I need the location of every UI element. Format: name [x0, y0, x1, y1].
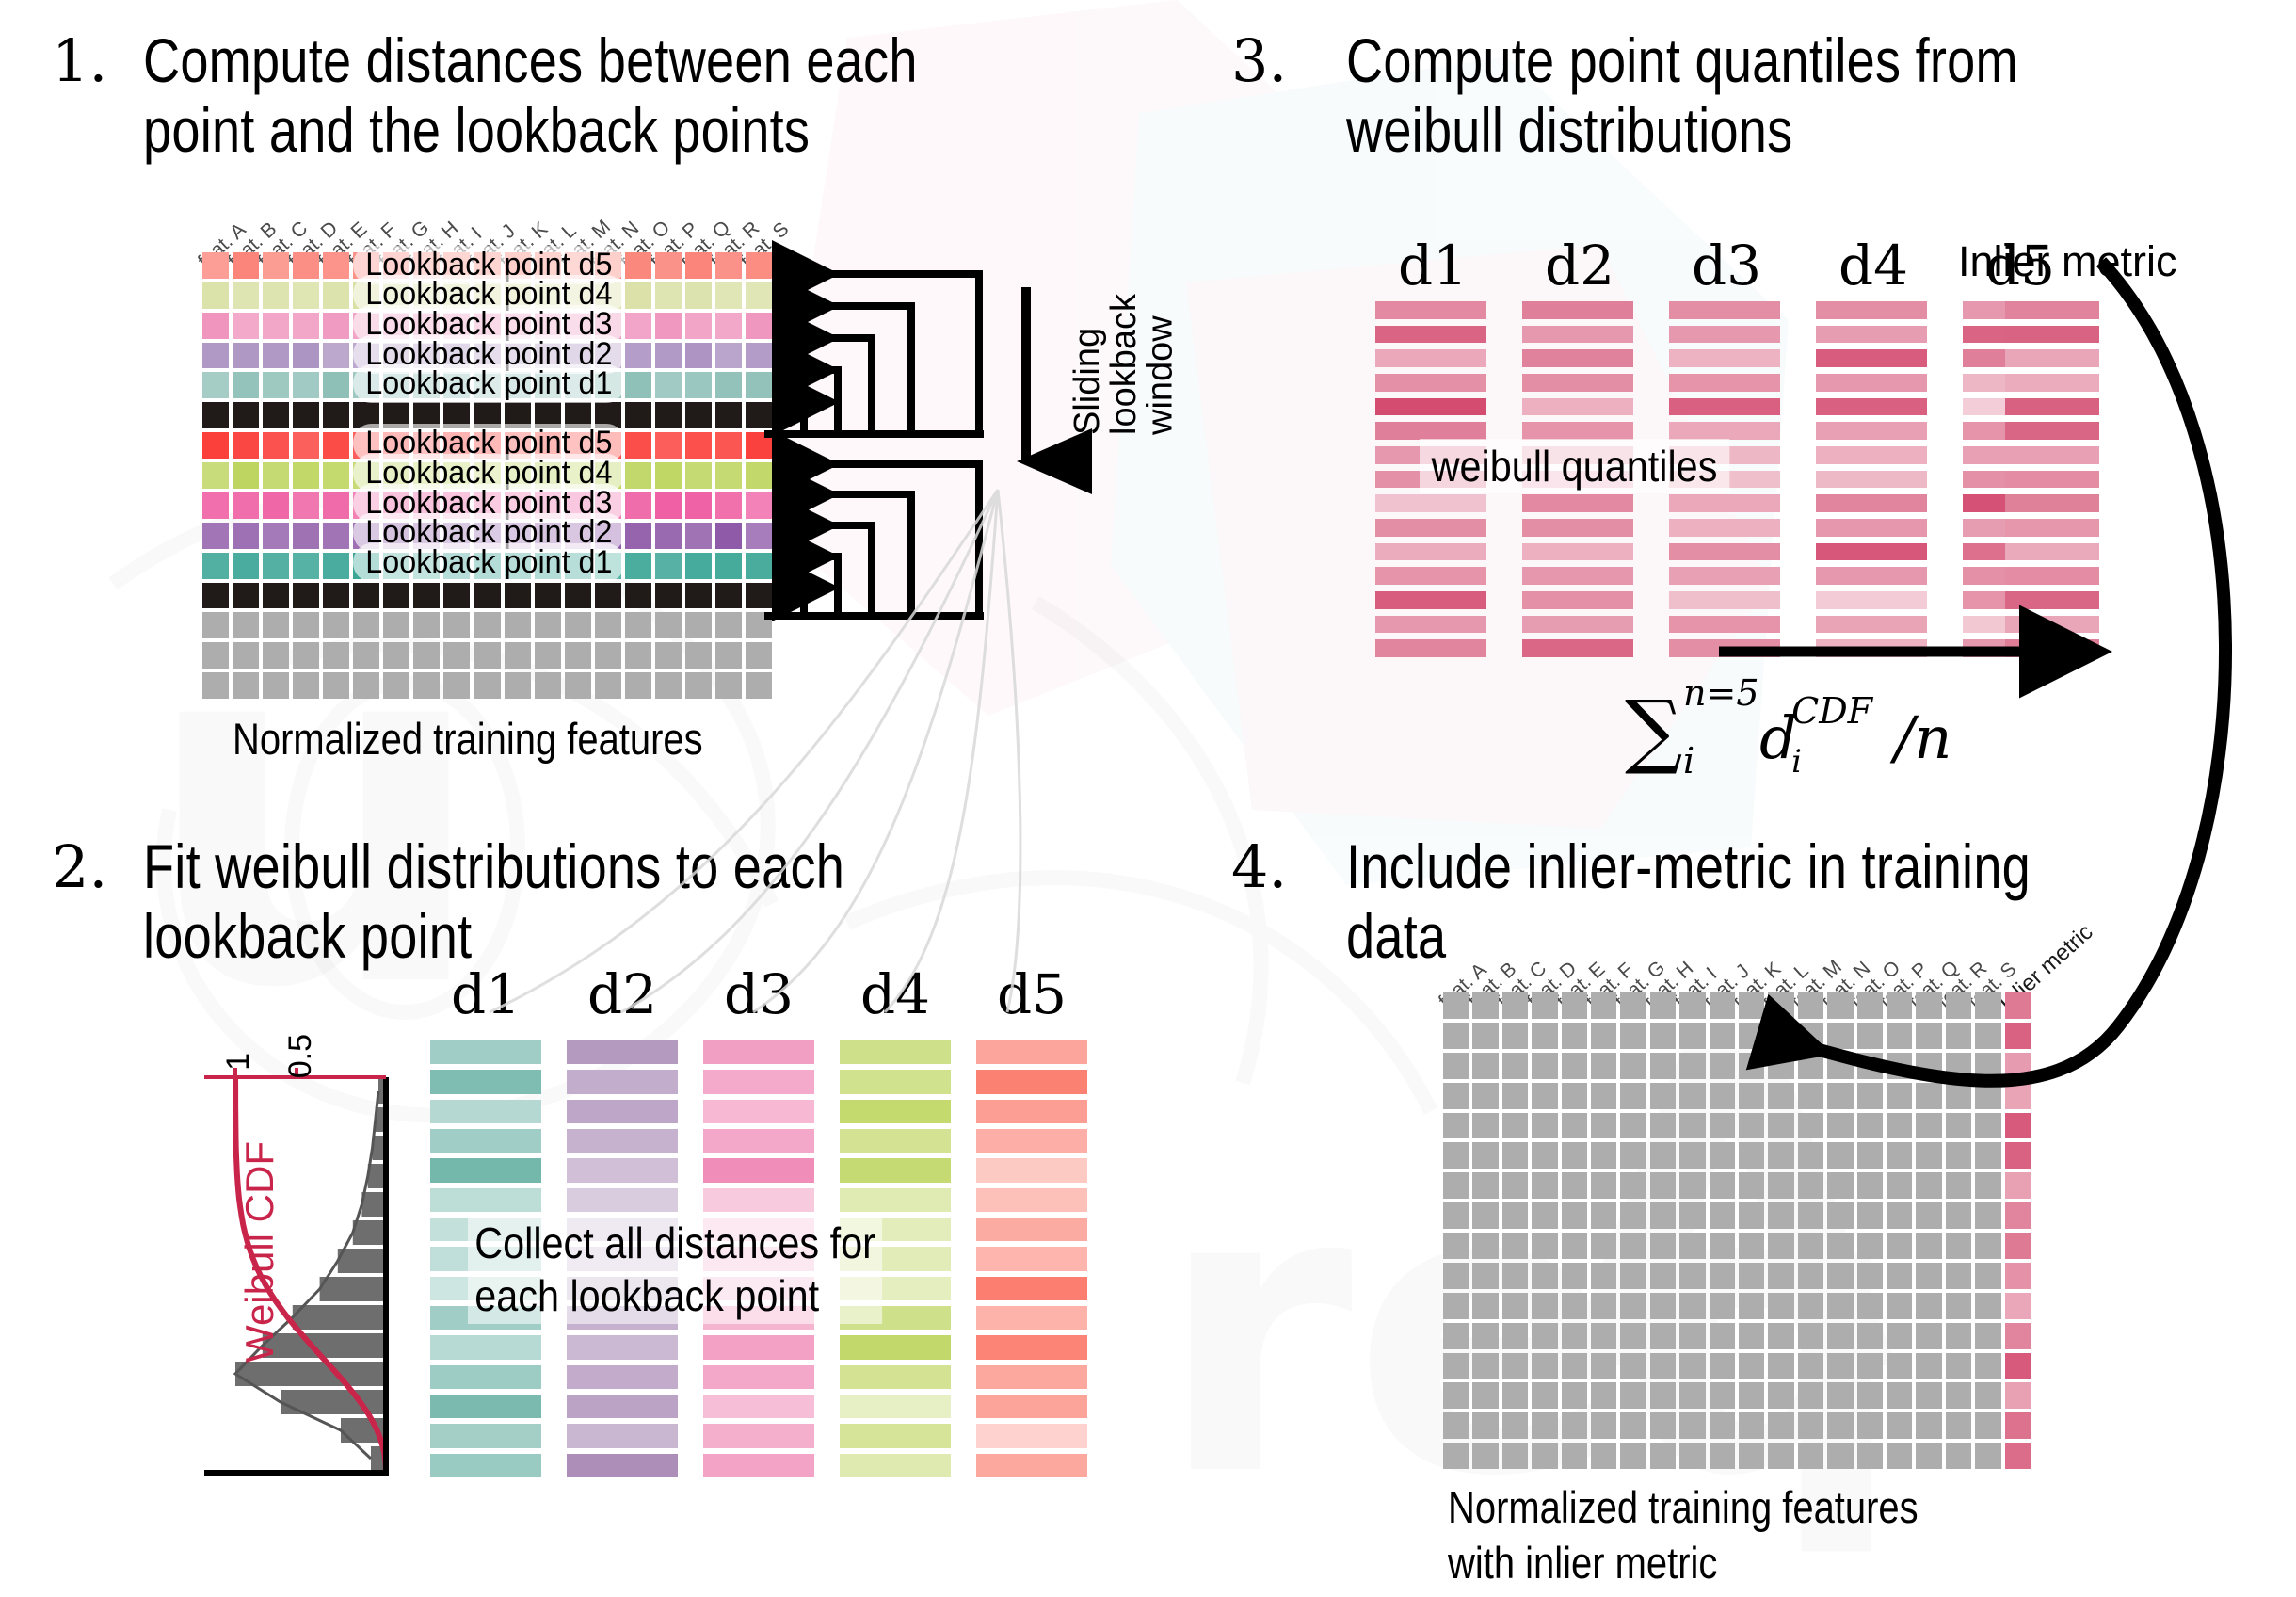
panel-4-cell — [1472, 1053, 1498, 1079]
panel-4-cell — [1798, 1382, 1823, 1409]
panel-3-inlier-metric-label: Inlier metric — [1958, 237, 2177, 286]
panel-1-cell — [625, 462, 651, 489]
inlier-metric-bar — [2005, 398, 2099, 416]
inlier-metric-bar — [2005, 591, 2099, 609]
panel-4-cell — [1650, 1382, 1676, 1409]
panel-4-cell — [1532, 1202, 1557, 1229]
panel-4-cell — [1975, 1233, 2000, 1259]
panel-1-cell — [293, 612, 319, 638]
panel-1-cell — [474, 612, 500, 638]
panel-4-cell — [1857, 1353, 1883, 1379]
panel-4-cell — [1562, 1053, 1587, 1079]
panel-3-quantile-bar — [1669, 349, 1780, 367]
inlier-metric-bar — [2005, 471, 2099, 489]
panel-1-cell — [505, 642, 531, 669]
panel-1-cell — [715, 343, 742, 369]
panel-1-cell — [233, 492, 259, 519]
panel-2-column-label-d4: d4 — [860, 962, 930, 1026]
panel-1-cell — [293, 553, 319, 579]
panel-4-cell — [1710, 1353, 1735, 1379]
panel-1-cell — [202, 523, 229, 549]
panel-1-cell — [202, 343, 229, 369]
panel-1-cell — [383, 583, 409, 609]
inlier-metric-bar — [2005, 446, 2099, 464]
panel-3-quantile-bar — [1669, 591, 1780, 609]
panel-4-cell — [1591, 1172, 1616, 1199]
panel-1-cell — [443, 583, 470, 609]
panel-4-cell — [1916, 1113, 1941, 1139]
panel-4-cell — [1768, 992, 1793, 1019]
step-2-number: 2. — [52, 838, 107, 896]
histogram-bar — [338, 1249, 386, 1273]
panel-1-cell — [383, 642, 409, 669]
panel-4-cell — [1798, 1412, 1823, 1439]
panel-4-cell — [1798, 1113, 1823, 1139]
panel-1-cell — [685, 313, 712, 339]
panel-1-cell — [263, 343, 289, 369]
panel-3-column-label-d1: d1 — [1398, 234, 1468, 298]
panel-4-cell — [1650, 1142, 1676, 1169]
panel-4-cell — [1916, 1142, 1941, 1169]
panel-2-bar — [976, 1129, 1087, 1153]
panel-3-quantile-bar — [1522, 543, 1633, 561]
panel-3-quantile-bar — [1522, 616, 1633, 634]
panel-4-cell — [1946, 1113, 1971, 1139]
panel-1-cell — [263, 583, 289, 609]
panel-4-cell — [1443, 1263, 1469, 1289]
panel-4-cell — [1562, 1113, 1587, 1139]
panel-4-cell — [1532, 1083, 1557, 1109]
panel-2-bar — [567, 1454, 678, 1477]
inlier-metric-bar — [2005, 422, 2099, 440]
panel-4-cell — [1946, 1353, 1971, 1379]
inlier-metric-bar — [2005, 349, 2099, 367]
panel-4-cell — [1827, 1443, 1853, 1469]
panel-3-quantile-bar — [1375, 374, 1486, 392]
panel-1-cell — [263, 252, 289, 279]
panel-3-quantile-bar — [1669, 639, 1780, 657]
panel-2-bar — [976, 1188, 1087, 1212]
panel-1-cell — [505, 672, 531, 699]
panel-1-cell — [474, 583, 500, 609]
panel-4-cell — [1472, 1353, 1498, 1379]
panel-4-inlier-cell — [2005, 1083, 2031, 1109]
panel-4-cell — [1679, 1382, 1705, 1409]
panel-1-cell — [685, 523, 712, 549]
panel-1-cell — [595, 612, 621, 638]
panel-1-cell — [233, 612, 259, 638]
panel-4-cell — [1739, 1202, 1764, 1229]
panel-4-cell — [1679, 1202, 1705, 1229]
panel-4-cell — [1768, 1412, 1793, 1439]
inlier-metric-column — [2005, 301, 2099, 664]
panel-4-cell — [1975, 1023, 2000, 1049]
panel-2-bar — [976, 1040, 1087, 1064]
panel-1-cell — [625, 492, 651, 519]
panel-4-cell — [1710, 1233, 1735, 1259]
panel-4-cell — [1946, 1142, 1971, 1169]
panel-1-cell — [263, 612, 289, 638]
panel-1-cell — [655, 553, 682, 579]
panel-4-cell — [1591, 1323, 1616, 1349]
panel-1-cell — [715, 612, 742, 638]
panel-4-cell — [1532, 1233, 1557, 1259]
panel-3-quantile-bar — [1669, 567, 1780, 585]
panel-4-cell — [1887, 1263, 1912, 1289]
panel-4-cell — [1975, 1202, 2000, 1229]
panel-4-inlier-cell — [2005, 1293, 2031, 1319]
panel-1-cell — [293, 402, 319, 428]
panel-1-cell — [565, 672, 591, 699]
panel-4-cell — [1946, 1233, 1971, 1259]
histogram-bar — [293, 1305, 386, 1330]
panel-1-cell — [323, 372, 349, 398]
panel-4-cell — [1591, 1353, 1616, 1379]
panel-1-cell — [263, 372, 289, 398]
formula-d-sup: CDF — [1791, 690, 1872, 732]
panel-2-bar — [703, 1454, 814, 1477]
panel-4-cell — [1975, 1172, 2000, 1199]
panel-1-cell — [202, 612, 229, 638]
panel-4-cell — [1710, 1382, 1735, 1409]
panel-1-cell — [413, 672, 440, 699]
panel-4-cell — [1562, 1382, 1587, 1409]
panel-4-cell — [1679, 1293, 1705, 1319]
panel-4-cell — [1620, 1202, 1646, 1229]
panel-4-cell — [1798, 1293, 1823, 1319]
panel-1-cell — [233, 523, 259, 549]
panel-3-quantile-bar — [1522, 326, 1633, 344]
panel-2-bar — [567, 1070, 678, 1093]
panel-4-cell — [1768, 1293, 1793, 1319]
panel-1-cell — [413, 642, 440, 669]
panel-2-bar — [703, 1129, 814, 1153]
panel-1-cell — [715, 583, 742, 609]
panel-4-cell — [1768, 1113, 1793, 1139]
panel-4-cell — [1768, 1233, 1793, 1259]
panel-4-cell — [1768, 1382, 1793, 1409]
panel-4-cell — [1827, 992, 1853, 1019]
lookback-row-label: Lookback point d1 — [353, 364, 625, 403]
inlier-metric-bar — [2005, 494, 2099, 512]
panel-1-cell — [323, 672, 349, 699]
panel-1-cell — [202, 492, 229, 519]
panel-4-cell — [1916, 1053, 1941, 1079]
panel-4-cell — [1916, 1353, 1941, 1379]
panel-4-cell — [1591, 1412, 1616, 1439]
panel-4-cell — [1443, 1323, 1469, 1349]
panel-1-cell — [655, 372, 682, 398]
panel-4-cell — [1916, 1233, 1941, 1259]
panel-4-cell — [1472, 1142, 1498, 1169]
panel-1-cell — [655, 402, 682, 428]
panel-4-cell — [1472, 1113, 1498, 1139]
panel-1-cell — [323, 313, 349, 339]
panel-4-cell — [1679, 1443, 1705, 1469]
panel-1-cell — [323, 612, 349, 638]
panel-4-cell — [1739, 1293, 1764, 1319]
formula-sum-sub: i — [1683, 740, 1694, 782]
panel-2-bar — [976, 1158, 1087, 1182]
panel-1-cell — [625, 672, 651, 699]
panel-1-cell — [625, 372, 651, 398]
panel-4-cell — [1827, 1382, 1853, 1409]
panel-1-cell — [746, 492, 772, 519]
panel-1-cell — [625, 553, 651, 579]
weibull-cdf-axis-label: Weibull CDF — [237, 1141, 282, 1363]
panel-4-feature-grid — [1443, 992, 2031, 1469]
panel-1-cell — [625, 523, 651, 549]
panel-1-cell — [655, 432, 682, 459]
panel-4-cell — [1532, 1023, 1557, 1049]
panel-1-cell — [202, 372, 229, 398]
panel-4-cell — [1443, 1172, 1469, 1199]
panel-1-cell — [715, 492, 742, 519]
panel-1-cell — [715, 462, 742, 489]
panel-4-cell — [1887, 1443, 1912, 1469]
panel-1-cell — [746, 372, 772, 398]
panel-4-cell — [1679, 1172, 1705, 1199]
panel-4-cell — [1472, 1412, 1498, 1439]
panel-4-cell — [1650, 1443, 1676, 1469]
panel-3-quantile-bar — [1522, 519, 1633, 537]
panel-4-cell — [1502, 1142, 1528, 1169]
panel-4-cell — [1591, 1202, 1616, 1229]
panel-4-cell — [1768, 1263, 1793, 1289]
panel-4-cell — [1472, 992, 1498, 1019]
panel-2-bar — [430, 1100, 541, 1123]
histogram-bar — [320, 1277, 386, 1301]
panel-4-cell — [1710, 1172, 1735, 1199]
panel-3-quantile-bar — [1669, 519, 1780, 537]
panel-1-cell — [655, 343, 682, 369]
panel-2-column-d5 — [976, 1040, 1087, 1483]
panel-4-cell — [1857, 1263, 1883, 1289]
panel-4-cell — [1798, 1323, 1823, 1349]
panel-1-cell — [202, 282, 229, 309]
panel-3-quantile-bar — [1816, 398, 1927, 416]
panel-4-cell — [1562, 1023, 1587, 1049]
panel-4-cell — [1650, 992, 1676, 1019]
panel-4-cell — [1502, 1323, 1528, 1349]
panel-1-cell — [655, 583, 682, 609]
inlier-metric-bar — [2005, 639, 2099, 657]
panel-4-cell — [1857, 1113, 1883, 1139]
panel-2-bar — [703, 1365, 814, 1389]
panel-4-cell — [1887, 1023, 1912, 1049]
panel-4-cell — [1916, 1083, 1941, 1109]
panel-2-bar — [430, 1365, 541, 1389]
panel-3-quantile-bar — [1816, 591, 1927, 609]
panel-3-quantile-bar — [1375, 567, 1486, 585]
panel-4-cell — [1650, 1233, 1676, 1259]
panel-3-quantile-bar — [1816, 639, 1927, 657]
panel-1-cell — [233, 432, 259, 459]
panel-4-cell — [1975, 1083, 2000, 1109]
panel-4-cell — [1857, 1323, 1883, 1349]
panel-4-cell — [1827, 1172, 1853, 1199]
panel-4-cell — [1916, 1293, 1941, 1319]
panel-1-cell — [715, 252, 742, 279]
panel-4-cell — [1975, 1263, 2000, 1289]
panel-3-quantile-bar — [1522, 639, 1633, 657]
panel-4-cell — [1532, 1142, 1557, 1169]
panel-3-quantile-bar — [1669, 494, 1780, 512]
panel-4-cell — [1532, 1053, 1557, 1079]
panel-1-cell — [202, 462, 229, 489]
panel-4-inlier-cell — [2005, 1113, 2031, 1139]
panel-4-cell — [1857, 1083, 1883, 1109]
panel-1-cell — [746, 523, 772, 549]
panel-3-quantile-bar — [1816, 422, 1927, 440]
panel-3-quantile-bar — [1522, 567, 1633, 585]
panel-1-cell — [323, 553, 349, 579]
panel-4-cell — [1679, 1353, 1705, 1379]
panel-1-cell — [746, 343, 772, 369]
panel-4-cell — [1768, 1023, 1793, 1049]
panel-4-cell — [1887, 1323, 1912, 1349]
panel-4-cell — [1472, 1202, 1498, 1229]
step-2-title: Fit weibull distributions to each lookba… — [143, 832, 844, 972]
panel-1-cell — [746, 282, 772, 309]
panel-3-quantile-bar — [1816, 567, 1927, 585]
panel-4-cell — [1502, 1443, 1528, 1469]
panel-4-cell — [1798, 1023, 1823, 1049]
panel-4-cell — [1562, 1202, 1587, 1229]
panel-4-cell — [1620, 1172, 1646, 1199]
panel-2-bar — [567, 1395, 678, 1418]
panel-1-cell — [443, 672, 470, 699]
lookback-bracket-upper — [764, 274, 984, 434]
inlier-metric-bar — [2005, 519, 2099, 537]
panel-4-cell — [1739, 1142, 1764, 1169]
panel-4-cell — [1798, 1172, 1823, 1199]
panel-1-cell — [474, 672, 500, 699]
panel-4-cell — [1739, 992, 1764, 1019]
panel-1-caption: Normalized training features — [233, 712, 703, 767]
panel-4-cell — [1739, 1412, 1764, 1439]
histogram-bar — [353, 1220, 386, 1245]
panel-4-cell — [1620, 1263, 1646, 1289]
panel-4-cell — [1591, 1023, 1616, 1049]
panel-4-inlier-cell — [2005, 1323, 2031, 1349]
panel-1-cell — [474, 642, 500, 669]
panel-2-bar — [567, 1424, 678, 1447]
panel-4-cell — [1443, 1233, 1469, 1259]
panel-3-quantile-bar — [1669, 543, 1780, 561]
panel-4-cell — [1798, 992, 1823, 1019]
panel-4-cell — [1710, 992, 1735, 1019]
panel-1-cell — [293, 462, 319, 489]
formula-d-sub: i — [1791, 743, 1802, 781]
panel-2-bar — [567, 1158, 678, 1182]
panel-4-cell — [1887, 1382, 1912, 1409]
panel-4-cell — [1532, 1412, 1557, 1439]
panel-3-quantile-bar — [1522, 422, 1633, 440]
panel-4-cell — [1443, 1412, 1469, 1439]
panel-2-bar — [567, 1040, 678, 1064]
panel-3-quantile-bar — [1816, 543, 1927, 561]
panel-1-cell — [746, 402, 772, 428]
panel-1-cell — [625, 612, 651, 638]
panel-4-cell — [1502, 1382, 1528, 1409]
panel-1-cell — [293, 492, 319, 519]
panel-1-cell — [323, 432, 349, 459]
inlier-metric-bar — [2005, 301, 2099, 319]
panel-4-cell — [1887, 1293, 1912, 1319]
panel-1-cell — [233, 313, 259, 339]
panel-1-cell — [293, 672, 319, 699]
panel-2-bar — [567, 1335, 678, 1359]
inlier-metric-bar — [2005, 374, 2099, 392]
panel-4-cell — [1768, 1172, 1793, 1199]
panel-4-cell — [1532, 1353, 1557, 1379]
panel-4-cell — [1975, 1382, 2000, 1409]
panel-1-cell — [293, 343, 319, 369]
panel-4-cell — [1562, 1323, 1587, 1349]
panel-4-cell — [1946, 1172, 1971, 1199]
panel-4-inlier-cell — [2005, 1172, 2031, 1199]
panel-4-cell — [1975, 1113, 2000, 1139]
panel-1-cell — [202, 642, 229, 669]
panel-4-cell — [1620, 1083, 1646, 1109]
panel-2-bar — [976, 1335, 1087, 1359]
panel-4-cell — [1739, 1323, 1764, 1349]
panel-1-cell — [323, 523, 349, 549]
panel-4-cell — [1739, 1382, 1764, 1409]
panel-4-cell — [1591, 1293, 1616, 1319]
panel-4-cell — [1857, 1412, 1883, 1439]
panel-4-cell — [1768, 1083, 1793, 1109]
panel-1-cell — [323, 402, 349, 428]
panel-4-cell — [1562, 1412, 1587, 1439]
panel-1-cell — [263, 523, 289, 549]
panel-2-bar — [976, 1395, 1087, 1418]
panel-4-cell — [1798, 1053, 1823, 1079]
panel-4-cell — [1946, 1323, 1971, 1349]
panel-4-cell — [1887, 1083, 1912, 1109]
panel-4-cell — [1502, 1023, 1528, 1049]
panel-4-cell — [1857, 1233, 1883, 1259]
panel-4-cell — [1887, 1053, 1912, 1079]
panel-4-cell — [1975, 1053, 2000, 1079]
panel-4-cell — [1562, 1233, 1587, 1259]
histogram-bar — [235, 1362, 386, 1386]
panel-2-bar — [703, 1040, 814, 1064]
panel-4-cell — [1739, 1443, 1764, 1469]
panel-1-cell — [353, 672, 379, 699]
panel-1-cell — [685, 583, 712, 609]
panel-3-quantile-bar — [1816, 616, 1927, 634]
panel-4-cell — [1620, 1323, 1646, 1349]
panel-4-cell — [1472, 1323, 1498, 1349]
panel-4-cell — [1739, 1113, 1764, 1139]
panel-4-cell — [1472, 1263, 1498, 1289]
panel-3-quantile-bar — [1375, 422, 1486, 440]
panel-4-cell — [1739, 1172, 1764, 1199]
panel-4-cell — [1650, 1293, 1676, 1319]
panel-1-cell — [715, 553, 742, 579]
panel-4-cell — [1443, 1293, 1469, 1319]
panel-1-cell — [202, 402, 229, 428]
panel-2-bar — [567, 1129, 678, 1153]
panel-4-cell — [1679, 992, 1705, 1019]
panel-4-cell — [1472, 1172, 1498, 1199]
panel-4-cell — [1887, 992, 1912, 1019]
step-3-number: 3. — [1231, 32, 1287, 90]
panel-2-bar — [840, 1129, 951, 1153]
step-1-title: Compute distances between each point and… — [143, 26, 918, 166]
